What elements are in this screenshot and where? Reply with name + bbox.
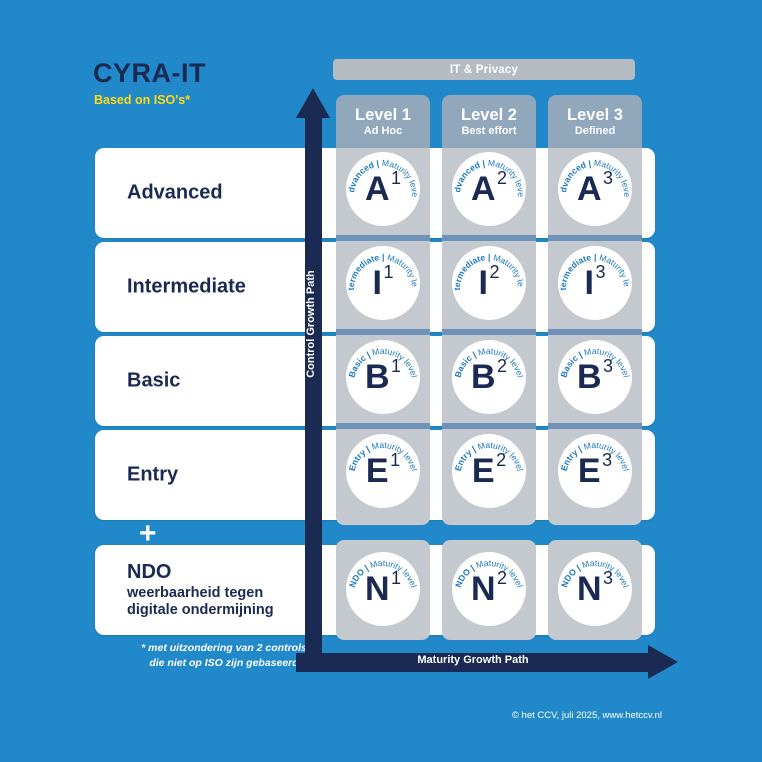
copyright-text: © het CCV, juli 2025, www.hetccv.nl [512,710,662,721]
level-subtitle-1: Ad Hoc [364,125,403,137]
maturity-badge-ndo-1[interactable]: NDO | Maturity levelN1 [346,552,420,626]
row-label-intermediate: Intermediate [127,276,246,299]
page-title: CYRA-IT [93,58,206,89]
badge-letter-group: B3 [558,340,632,414]
badge-letter: N [471,572,495,606]
badge-letter-group: E3 [558,434,632,508]
badge-level-number: 2 [496,451,506,469]
badge-letter: E [578,454,600,488]
level-subtitle-3: Defined [575,125,615,137]
badge-level-number: 3 [595,263,605,281]
badge-letter-group: E1 [346,434,420,508]
badge-level-number: 2 [497,169,507,187]
page-subtitle: Based on ISO's* [94,93,190,107]
badge-letter: E [472,454,494,488]
badge-letter-group: N3 [558,552,632,626]
maturity-badge-advanced-1[interactable]: Advanced | Maturity levelA1 [346,152,420,226]
level-title-3: Level 3 [567,106,623,124]
badge-letter: B [365,360,389,394]
row-label-basic: Basic [127,370,180,393]
badge-letter: A [577,172,601,206]
maturity-growth-path-arrow: Maturity Growth Path [296,645,678,679]
badge-letter-group: I3 [558,246,632,320]
maturity-badge-basic-3[interactable]: Basic | Maturity levelB3 [558,340,632,414]
ndo-title: NDO [127,561,274,585]
badge-letter: B [471,360,495,394]
maturity-badge-entry-3[interactable]: Entry | Maturity levelE3 [558,434,632,508]
maturity-badge-ndo-3[interactable]: NDO | Maturity levelN3 [558,552,632,626]
row-label-entry: Entry [127,464,178,487]
control-growth-path-label: Control Growth Path [305,264,317,384]
badge-letter-group: B2 [452,340,526,414]
plus-separator-icon: + [139,519,157,549]
column-divider [336,423,430,429]
badge-level-number: 3 [603,569,613,587]
badge-letter: I [479,266,488,300]
badge-level-number: 1 [383,263,393,281]
ndo-line2: weerbaarheid tegen [127,585,274,602]
badge-letter: I [373,266,382,300]
column-divider [442,329,536,335]
column-divider [548,423,642,429]
badge-letter-group: A3 [558,152,632,226]
badge-letter: E [366,454,388,488]
badge-letter-group: I2 [452,246,526,320]
badge-letter-group: E2 [452,434,526,508]
badge-level-number: 1 [391,357,401,375]
badge-letter: I [585,266,594,300]
badge-level-number: 1 [391,569,401,587]
badge-letter-group: A2 [452,152,526,226]
maturity-badge-entry-2[interactable]: Entry | Maturity levelE2 [452,434,526,508]
maturity-badge-intermediate-1[interactable]: Intermediate | Maturity levelI1 [346,246,420,320]
badge-letter-group: I1 [346,246,420,320]
level-title-1: Level 1 [355,106,411,124]
maturity-badge-advanced-2[interactable]: Advanced | Maturity levelA2 [452,152,526,226]
column-divider [336,235,430,241]
level-subtitle-2: Best effort [461,125,516,137]
control-growth-path-arrow: Control Growth Path [296,88,330,668]
maturity-badge-basic-2[interactable]: Basic | Maturity levelB2 [452,340,526,414]
column-divider [442,235,536,241]
level-title-2: Level 2 [461,106,517,124]
badge-letter: B [577,360,601,394]
arrow-shaft-vertical [305,114,322,668]
badge-level-number: 1 [390,451,400,469]
column-header-level-2[interactable]: Level 2 Best effort [442,95,536,148]
badge-letter-group: N2 [452,552,526,626]
maturity-badge-intermediate-2[interactable]: Intermediate | Maturity levelI2 [452,246,526,320]
badge-level-number: 2 [497,569,507,587]
badge-letter-group: N1 [346,552,420,626]
badge-letter-group: B1 [346,340,420,414]
column-divider [442,423,536,429]
badge-level-number: 3 [603,357,613,375]
maturity-badge-intermediate-3[interactable]: Intermediate | Maturity levelI3 [558,246,632,320]
maturity-badge-entry-1[interactable]: Entry | Maturity levelE1 [346,434,420,508]
it-privacy-banner: IT & Privacy [333,59,635,80]
badge-level-number: 2 [497,357,507,375]
badge-letter-group: A1 [346,152,420,226]
maturity-growth-path-label: Maturity Growth Path [296,654,650,666]
diagram-canvas: CYRA-IT Based on ISO's* IT & Privacy Adv… [0,0,762,762]
column-header-level-3[interactable]: Level 3 Defined [548,95,642,148]
arrow-head-right-icon [648,645,678,679]
badge-level-number: 1 [391,169,401,187]
column-divider [548,329,642,335]
row-label-ndo: NDO weerbaarheid tegen digitale ondermij… [127,561,274,619]
badge-letter: N [365,572,389,606]
badge-level-number: 3 [602,451,612,469]
maturity-badge-ndo-2[interactable]: NDO | Maturity levelN2 [452,552,526,626]
badge-letter: A [365,172,389,206]
maturity-badge-advanced-3[interactable]: Advanced | Maturity levelA3 [558,152,632,226]
maturity-badge-basic-1[interactable]: Basic | Maturity levelB1 [346,340,420,414]
column-divider [548,235,642,241]
row-label-advanced: Advanced [127,182,223,205]
ndo-line3: digitale ondermijning [127,602,274,619]
column-divider [336,329,430,335]
badge-letter: A [471,172,495,206]
column-header-level-1[interactable]: Level 1 Ad Hoc [336,95,430,148]
badge-letter: N [577,572,601,606]
badge-level-number: 2 [489,263,499,281]
badge-level-number: 3 [603,169,613,187]
